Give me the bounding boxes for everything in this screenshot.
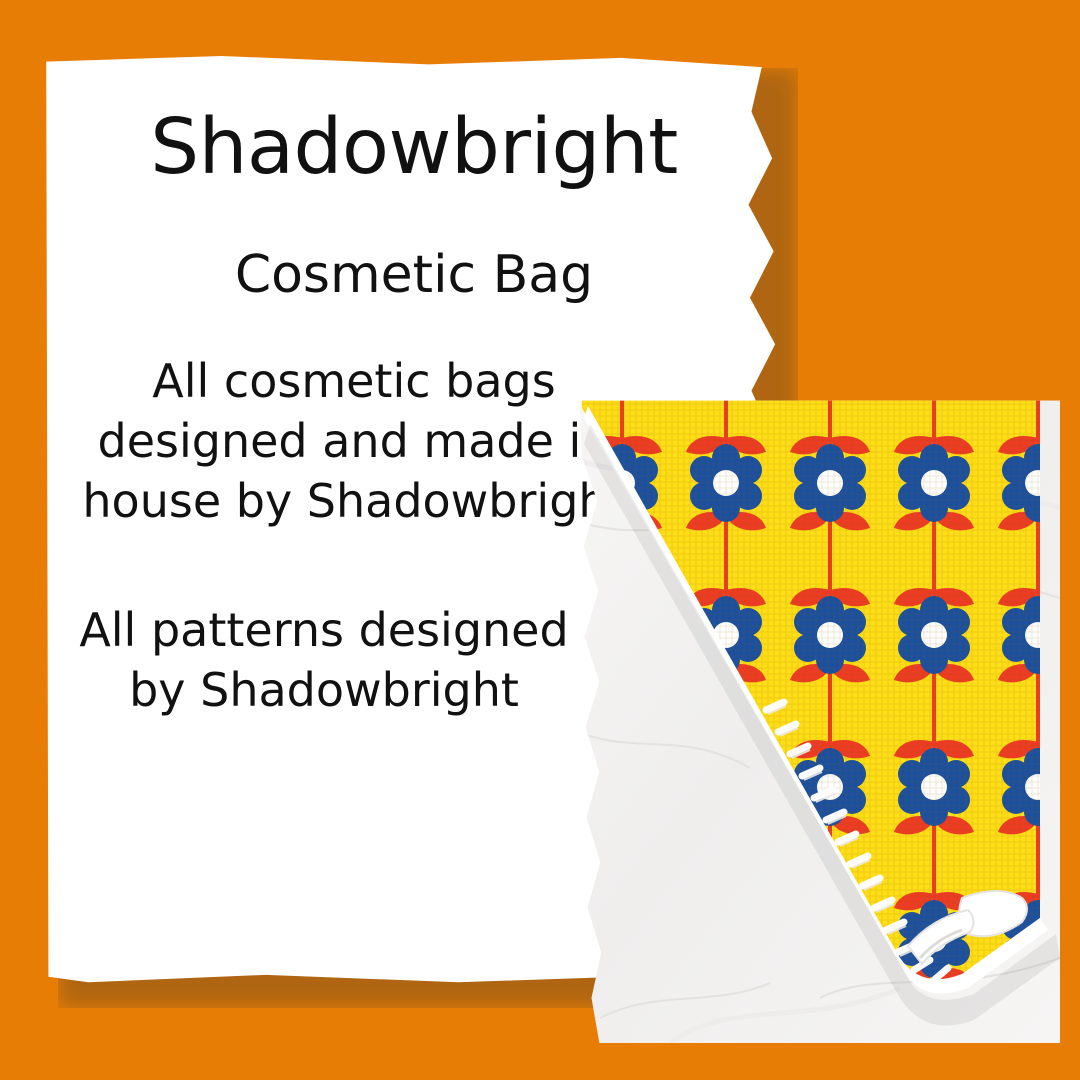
cosmetic-bag-photo xyxy=(570,398,1060,1043)
product-title: Cosmetic Bag xyxy=(44,189,784,304)
blurb-patterns-designed: All patterns designed by Shadowbright xyxy=(44,531,604,721)
blurb-design-made-in-house: All cosmetic bags designed and made in h… xyxy=(44,304,664,531)
poster-canvas: Shadowbright Cosmetic Bag All cosmetic b… xyxy=(0,0,1080,1080)
brand-title: Shadowbright xyxy=(44,56,784,189)
